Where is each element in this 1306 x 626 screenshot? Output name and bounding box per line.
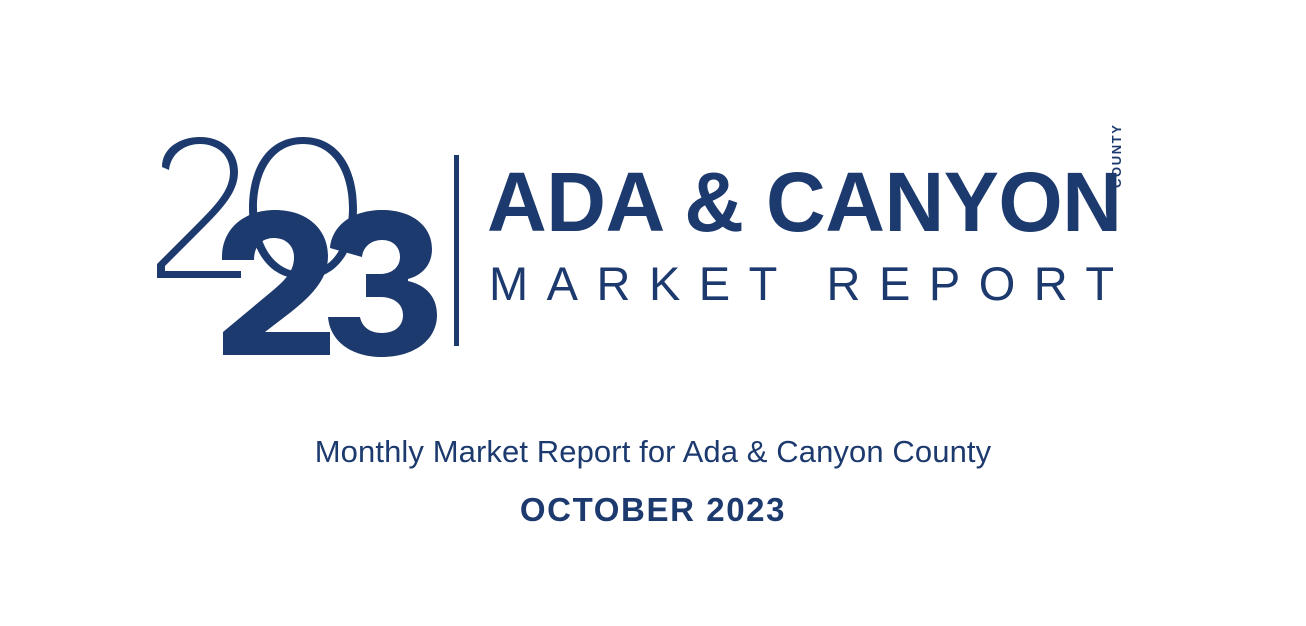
wordmark-primary-row: ADA & CANYON COUNTY <box>487 160 1167 252</box>
wordmark-primary-line: ADA & CANYON <box>487 160 1122 244</box>
report-cover-page: ADA & CANYON COUNTY MARKET REPORT Monthl… <box>0 0 1306 626</box>
report-period: OCTOBER 2023 <box>0 490 1306 530</box>
report-subtitle: Monthly Market Report for Ada & Canyon C… <box>0 432 1306 472</box>
vertical-divider-icon <box>454 155 459 346</box>
caption-block: Monthly Market Report for Ada & Canyon C… <box>0 432 1306 530</box>
brand-wordmark: ADA & CANYON COUNTY MARKET REPORT <box>487 160 1167 330</box>
brand-logo-lockup: ADA & CANYON COUNTY MARKET REPORT <box>0 0 1306 380</box>
wordmark-county-tag: COUNTY <box>1110 124 1123 189</box>
year-solid-23-icon <box>222 210 437 357</box>
year-2023-mark <box>155 140 445 355</box>
wordmark-secondary-line: MARKET REPORT <box>489 260 1133 307</box>
